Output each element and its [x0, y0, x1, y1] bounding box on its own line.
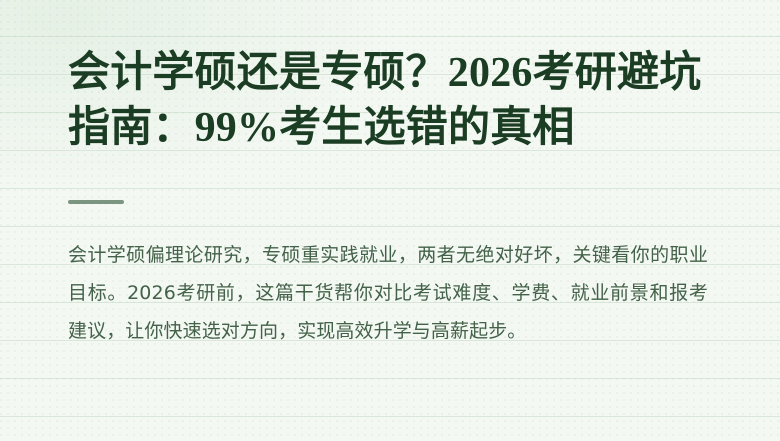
article-title: 会计学硕还是专硕？2026考研避坑指南：99%考生选错的真相 [68, 0, 712, 156]
article-card: 会计学硕还是专硕？2026考研避坑指南：99%考生选错的真相 会计学硕偏理论研究… [0, 0, 780, 441]
article-summary: 会计学硕偏理论研究，专硕重实践就业，两者无绝对好坏，关键看你的职业目标。2026… [68, 204, 708, 350]
article-content: 会计学硕还是专硕？2026考研避坑指南：99%考生选错的真相 会计学硕偏理论研究… [0, 0, 780, 350]
